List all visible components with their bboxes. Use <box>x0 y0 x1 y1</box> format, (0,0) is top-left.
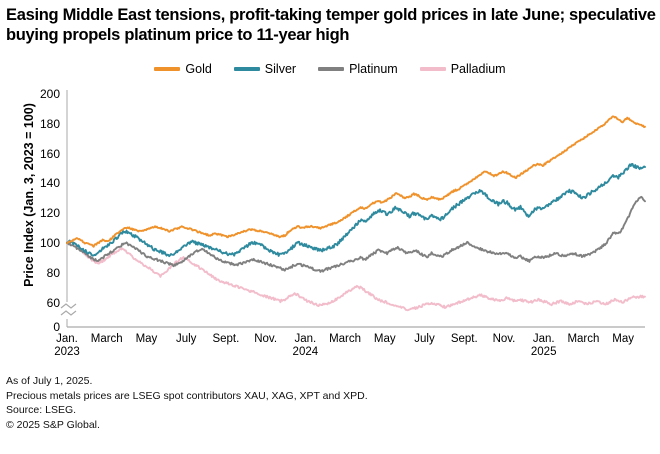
legend-label-gold: Gold <box>185 62 211 76</box>
legend-item-silver[interactable]: Silver <box>234 62 296 76</box>
chart-title: Easing Middle East tensions, profit-taki… <box>6 5 656 45</box>
legend-item-palladium[interactable]: Palladium <box>420 62 506 76</box>
y-tick-label-60: 60 <box>28 297 60 309</box>
chart-footnotes: As of July 1, 2025. Precious metals pric… <box>6 374 368 432</box>
legend-label-silver: Silver <box>265 62 296 76</box>
x-tick-year-2023: 2023 <box>41 346 93 358</box>
footnote-as-of: As of July 1, 2025. <box>6 374 368 389</box>
legend-item-platinum[interactable]: Platinum <box>318 62 398 76</box>
legend-swatch-palladium <box>420 67 446 71</box>
x-tick-label-14: May <box>597 333 649 345</box>
y-tick-label-160: 160 <box>28 148 60 160</box>
legend-label-platinum: Platinum <box>349 62 398 76</box>
y-axis-label: Price Index (Jan. 3, 2023 = 100) <box>22 70 36 320</box>
plot-area-wrapper: Price Index (Jan. 3, 2023 = 100) 0608010… <box>0 84 660 346</box>
y-tick-label-200: 200 <box>28 88 60 100</box>
series-line-platinum <box>67 197 645 272</box>
chart-legend: Gold Silver Platinum Palladium <box>0 62 660 76</box>
footnote-copyright: © 2025 S&P Global. <box>6 418 368 433</box>
legend-item-gold[interactable]: Gold <box>154 62 211 76</box>
chart-container: Easing Middle East tensions, profit-taki… <box>0 0 660 454</box>
x-tick-year-2025: 2025 <box>518 346 570 358</box>
y-axis-break-icon-2 <box>61 311 76 315</box>
plot-svg <box>0 84 660 346</box>
y-tick-label-100: 100 <box>28 237 60 249</box>
footnote-description: Precious metals prices are LSEG spot con… <box>6 389 368 404</box>
footnote-source: Source: LSEG. <box>6 403 368 418</box>
y-axis-break-icon <box>61 304 76 308</box>
y-tick-label-80: 80 <box>28 267 60 279</box>
y-tick-label-140: 140 <box>28 177 60 189</box>
y-tick-label-120: 120 <box>28 207 60 219</box>
y-tick-label-180: 180 <box>28 118 60 130</box>
y-tick-label-0: 0 <box>28 321 60 333</box>
x-tick-year-2024: 2024 <box>279 346 331 358</box>
legend-swatch-gold <box>154 67 180 71</box>
legend-swatch-silver <box>234 67 260 71</box>
legend-swatch-platinum <box>318 67 344 71</box>
series-line-gold <box>67 116 645 246</box>
legend-label-palladium: Palladium <box>451 62 506 76</box>
